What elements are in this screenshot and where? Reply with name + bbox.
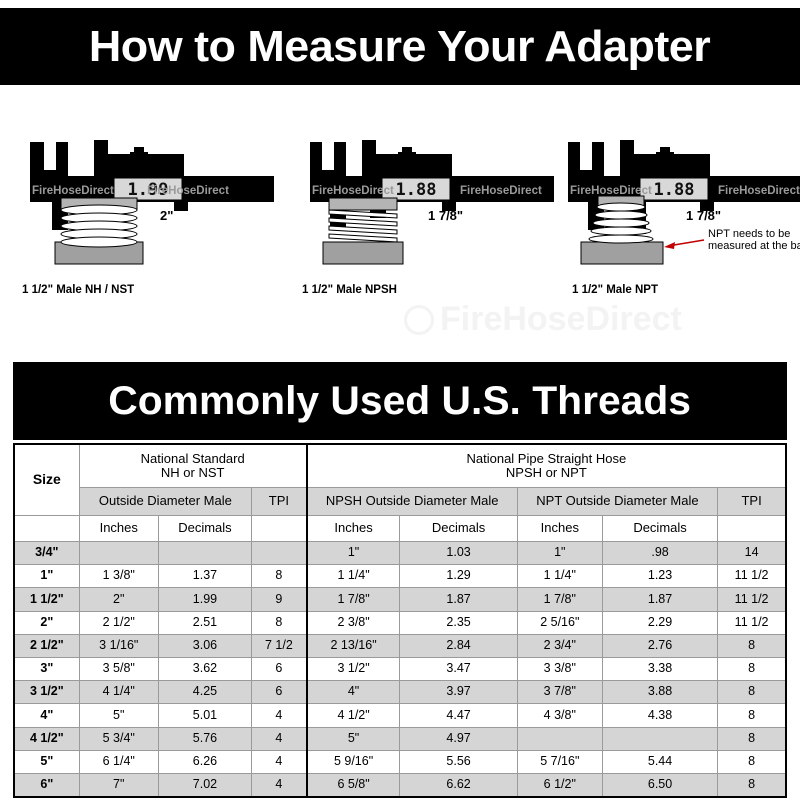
- cell-npt_dec: 6.50: [602, 773, 717, 796]
- cell-npsh_in: 5 9/16": [307, 750, 400, 773]
- cell-npsh_dec: 1.03: [400, 542, 517, 565]
- table-row: 4 1/2"5 3/4"5.7645"4.978: [14, 727, 786, 750]
- table-unit-nh-decimals: Decimals: [158, 516, 251, 542]
- table-group-header-nh: National Standard NH or NST: [79, 444, 307, 488]
- cell-nh_in: 3 5/8": [79, 657, 158, 680]
- table-row: 3"3 5/8"3.6263 1/2"3.473 3/8"3.388: [14, 657, 786, 680]
- cell-npsh_in: 2 3/8": [307, 611, 400, 634]
- table-row: 3 1/2"4 1/4"4.2564"3.973 7/8"3.888: [14, 681, 786, 704]
- cell-npt_dec: 1.87: [602, 588, 717, 611]
- cell-npt_tpi: 8: [718, 727, 786, 750]
- cell-npsh_dec: 1.29: [400, 565, 517, 588]
- cell-npt_in: [517, 727, 602, 750]
- cell-nh_tpi: 4: [252, 704, 307, 727]
- page-watermark: FireHoseDirect: [404, 300, 682, 339]
- table-row: 2 1/2"3 1/16"3.067 1/22 13/16"2.842 3/4"…: [14, 634, 786, 657]
- figure-nh-nst: 1.99 FireHoseDirect FireHoseDirect 2" 1 …: [8, 130, 274, 300]
- cell-npt_tpi: 11 1/2: [718, 565, 786, 588]
- caliper-lcd-value: 1.88: [396, 180, 437, 200]
- cell-npt_dec: 5.44: [602, 750, 717, 773]
- group-title-line2: NH or NST: [80, 466, 306, 480]
- cell-nh_in: 5": [79, 704, 158, 727]
- cell-npsh_dec: 3.97: [400, 681, 517, 704]
- caliper-figures: 1.99 FireHoseDirect FireHoseDirect 2" 1 …: [0, 130, 800, 300]
- flame-logo-icon: [404, 305, 434, 335]
- cell-nh_dec: 4.25: [158, 681, 251, 704]
- table-subheader-npsh-od: NPSH Outside Diameter Male: [307, 488, 518, 516]
- caliper-watermark-left: FireHoseDirect: [32, 185, 114, 197]
- cell-nh_dec: 7.02: [158, 773, 251, 796]
- table-row: 2"2 1/2"2.5182 3/8"2.352 5/16"2.2911 1/2: [14, 611, 786, 634]
- threads-banner: Commonly Used U.S. Threads: [13, 362, 787, 440]
- table-body: 3/4"1"1.031".98141"1 3/8"1.3781 1/4"1.29…: [14, 542, 786, 797]
- cell-nh_tpi: 8: [252, 565, 307, 588]
- table-unit-npt-decimals: Decimals: [602, 516, 717, 542]
- cell-nh_in: 3 1/16": [79, 634, 158, 657]
- cell-nh_dec: [158, 542, 251, 565]
- figure-caption-nh-nst: 1 1/2" Male NH / NST: [22, 284, 134, 296]
- cell-npsh_in: 3 1/2": [307, 657, 400, 680]
- cell-npt_in: 1 7/8": [517, 588, 602, 611]
- cell-nh_dec: 3.62: [158, 657, 251, 680]
- cell-npsh_in: 1 1/4": [307, 565, 400, 588]
- group-title-line1: National Standard: [80, 452, 306, 466]
- measurement-label: 2": [160, 208, 173, 223]
- table-unit-blank-npt-tpi: [718, 516, 786, 542]
- cell-npt_dec: [602, 727, 717, 750]
- cell-npt_dec: 2.76: [602, 634, 717, 657]
- table-row: 5"6 1/4"6.2645 9/16"5.565 7/16"5.448: [14, 750, 786, 773]
- cell-npt_dec: 4.38: [602, 704, 717, 727]
- cell-npsh_in: 1 7/8": [307, 588, 400, 611]
- cell-nh_dec: 2.51: [158, 611, 251, 634]
- caliper-watermark-right: FireHoseDirect: [718, 185, 800, 197]
- cell-npsh_in: 4": [307, 681, 400, 704]
- cell-nh_in: 2 1/2": [79, 611, 158, 634]
- cell-nh_in: 1 3/8": [79, 565, 158, 588]
- cell-npt_in: 2 3/4": [517, 634, 602, 657]
- cell-nh_dec: 1.99: [158, 588, 251, 611]
- cell-nh_tpi: 6: [252, 657, 307, 680]
- cell-npt_dec: 3.88: [602, 681, 717, 704]
- threads-title: Commonly Used U.S. Threads: [109, 379, 692, 424]
- figure-caption-npsh: 1 1/2" Male NPSH: [302, 284, 397, 296]
- cell-nh_tpi: 6: [252, 681, 307, 704]
- infographic-page: How to Measure Your Adapter 1: [0, 0, 800, 800]
- cell-npt_tpi: 11 1/2: [718, 611, 786, 634]
- group-title-line2: NPSH or NPT: [308, 466, 785, 480]
- cell-npt_in: 5 7/16": [517, 750, 602, 773]
- cell-npt_in: 3 3/8": [517, 657, 602, 680]
- cell-npt_dec: 1.23: [602, 565, 717, 588]
- cell-nh_tpi: 4: [252, 750, 307, 773]
- cell-size: 1": [14, 565, 79, 588]
- cell-npsh_in: 2 13/16": [307, 634, 400, 657]
- cell-size: 5": [14, 750, 79, 773]
- caliper-diagram-npt: 1.88 FireHoseDirect FireHoseDirect 1 7/8…: [546, 130, 800, 280]
- cell-size: 6": [14, 773, 79, 796]
- cell-nh_tpi: 4: [252, 773, 307, 796]
- cell-nh_in: 7": [79, 773, 158, 796]
- table-unit-npsh-inches: Inches: [307, 516, 400, 542]
- cell-npsh_dec: 6.62: [400, 773, 517, 796]
- cell-npsh_in: 1": [307, 542, 400, 565]
- cell-size: 4": [14, 704, 79, 727]
- table-subheader-npt-od: NPT Outside Diameter Male: [517, 488, 717, 516]
- cell-npt_tpi: 8: [718, 750, 786, 773]
- cell-npt_in: 1 1/4": [517, 565, 602, 588]
- caliper-watermark-left: FireHoseDirect: [312, 185, 394, 197]
- cell-size: 2 1/2": [14, 634, 79, 657]
- caliper-watermark-right: FireHoseDirect: [460, 185, 542, 197]
- npt-note-line2: measured at the base: [708, 240, 800, 252]
- cell-npt_in: 2 5/16": [517, 611, 602, 634]
- cell-npsh_dec: 4.97: [400, 727, 517, 750]
- cell-size: 4 1/2": [14, 727, 79, 750]
- caliper-watermark-right: FireHoseDirect: [147, 185, 229, 197]
- table-row: 1"1 3/8"1.3781 1/4"1.291 1/4"1.2311 1/2: [14, 565, 786, 588]
- cell-nh_tpi: 4: [252, 727, 307, 750]
- cell-size: 3/4": [14, 542, 79, 565]
- figure-npt: 1.88 FireHoseDirect FireHoseDirect 1 7/8…: [546, 130, 800, 300]
- table-row: 4"5"5.0144 1/2"4.474 3/8"4.388: [14, 704, 786, 727]
- caliper-lcd-value: 1.88: [654, 180, 695, 200]
- table-unit-blank-nh-tpi: [252, 516, 307, 542]
- cell-nh_in: 6 1/4": [79, 750, 158, 773]
- caliper-watermark-left: FireHoseDirect: [570, 185, 652, 197]
- cell-npsh_in: 5": [307, 727, 400, 750]
- table-unit-npt-inches: Inches: [517, 516, 602, 542]
- cell-npt_dec: .98: [602, 542, 717, 565]
- cell-npt_in: 4 3/8": [517, 704, 602, 727]
- cell-nh_dec: 3.06: [158, 634, 251, 657]
- cell-npsh_dec: 2.35: [400, 611, 517, 634]
- table-subheader-nh-od: Outside Diameter Male: [79, 488, 251, 516]
- measurement-label: 1 7/8": [428, 208, 463, 223]
- cell-npt_tpi: 8: [718, 681, 786, 704]
- cell-npsh_dec: 1.87: [400, 588, 517, 611]
- page-title: How to Measure Your Adapter: [89, 22, 710, 72]
- table-subheader-nh-tpi: TPI: [252, 488, 307, 516]
- cell-nh_in: 4 1/4": [79, 681, 158, 704]
- cell-nh_dec: 5.01: [158, 704, 251, 727]
- figure-caption-npt: 1 1/2" Male NPT: [572, 284, 658, 296]
- cell-nh_in: 5 3/4": [79, 727, 158, 750]
- cell-npsh_dec: 3.47: [400, 657, 517, 680]
- cell-npt_tpi: 8: [718, 634, 786, 657]
- table-unit-nh-inches: Inches: [79, 516, 158, 542]
- cell-npt_dec: 2.29: [602, 611, 717, 634]
- caliper-diagram-nh-nst: 1.99 FireHoseDirect FireHoseDirect 2": [8, 130, 274, 280]
- table-row: 3/4"1"1.031".9814: [14, 542, 786, 565]
- title-banner: How to Measure Your Adapter: [0, 8, 800, 85]
- cell-npsh_dec: 4.47: [400, 704, 517, 727]
- cell-nh_tpi: 8: [252, 611, 307, 634]
- cell-npt_tpi: 8: [718, 657, 786, 680]
- cell-npt_tpi: 8: [718, 773, 786, 796]
- cell-npt_tpi: 14: [718, 542, 786, 565]
- npt-note-line1: NPT needs to be: [708, 228, 790, 240]
- cell-npsh_dec: 2.84: [400, 634, 517, 657]
- cell-npt_in: 6 1/2": [517, 773, 602, 796]
- cell-nh_tpi: 9: [252, 588, 307, 611]
- cell-npt_tpi: 8: [718, 704, 786, 727]
- cell-size: 3": [14, 657, 79, 680]
- cell-nh_dec: 1.37: [158, 565, 251, 588]
- table-unit-npsh-decimals: Decimals: [400, 516, 517, 542]
- table-header-size: Size: [14, 444, 79, 516]
- cell-size: 3 1/2": [14, 681, 79, 704]
- group-title-line1: National Pipe Straight Hose: [308, 452, 785, 466]
- table-row: 1 1/2"2"1.9991 7/8"1.871 7/8"1.8711 1/2: [14, 588, 786, 611]
- measurement-label: 1 7/8": [686, 208, 721, 223]
- cell-npt_in: 3 7/8": [517, 681, 602, 704]
- cell-size: 1 1/2": [14, 588, 79, 611]
- cell-nh_tpi: [252, 542, 307, 565]
- npt-base-arrow-icon: [664, 240, 704, 249]
- cell-npt_in: 1": [517, 542, 602, 565]
- table-unit-blank-size: [14, 516, 79, 542]
- cell-nh_in: 2": [79, 588, 158, 611]
- cell-npt_tpi: 11 1/2: [718, 588, 786, 611]
- cell-npsh_dec: 5.56: [400, 750, 517, 773]
- cell-npsh_in: 4 1/2": [307, 704, 400, 727]
- table-row: 6"7"7.0246 5/8"6.626 1/2"6.508: [14, 773, 786, 796]
- cell-nh_in: [79, 542, 158, 565]
- table-subheader-npt-tpi: TPI: [718, 488, 786, 516]
- cell-npsh_in: 6 5/8": [307, 773, 400, 796]
- cell-nh_dec: 6.26: [158, 750, 251, 773]
- caliper-diagram-npsh: 1.88 FireHoseDirect FireHoseDirect 1 7/8…: [288, 130, 554, 280]
- page-watermark-text: FireHoseDirect: [440, 300, 682, 339]
- threads-table: Size National Standard NH or NST Nationa…: [13, 443, 787, 798]
- cell-nh_tpi: 7 1/2: [252, 634, 307, 657]
- cell-size: 2": [14, 611, 79, 634]
- cell-nh_dec: 5.76: [158, 727, 251, 750]
- cell-npt_dec: 3.38: [602, 657, 717, 680]
- table-group-header-npsh: National Pipe Straight Hose NPSH or NPT: [307, 444, 786, 488]
- figure-npsh: 1.88 FireHoseDirect FireHoseDirect 1 7/8…: [288, 130, 554, 300]
